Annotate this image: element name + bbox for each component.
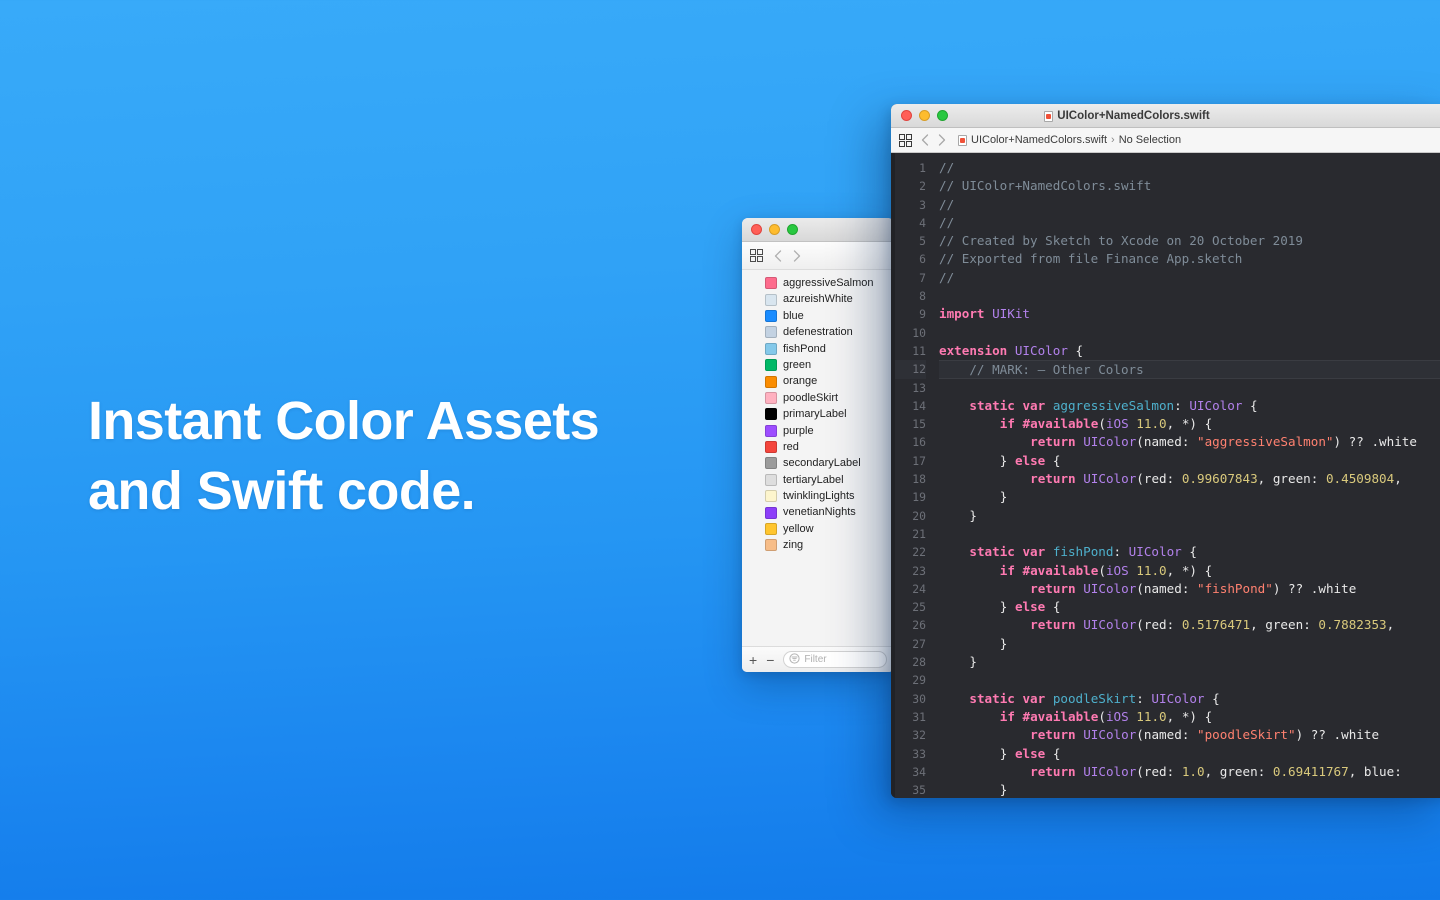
filter-placeholder-text: Filter	[804, 654, 826, 665]
color-asset-row[interactable]: twinklingLights	[742, 488, 894, 504]
line-number: 28	[895, 653, 926, 671]
color-swatch	[765, 277, 777, 289]
code-line: // Created by Sketch to Xcode on 20 Octo…	[939, 232, 1440, 250]
color-asset-name: purple	[783, 423, 814, 439]
grid-view-icon[interactable]	[899, 134, 912, 147]
line-number: 25	[895, 598, 926, 616]
minimize-icon[interactable]	[769, 224, 780, 235]
code-line: static var poodleSkirt: UIColor {	[939, 690, 1440, 708]
color-swatch	[765, 441, 777, 453]
xcode-navigation-bar: UIColor+NamedColors.swift › No Selection	[891, 128, 1440, 153]
color-asset-name: defenestration	[783, 324, 853, 340]
color-swatch	[765, 490, 777, 502]
colors-window-bottom-bar: + − Filter	[742, 646, 894, 672]
color-asset-row[interactable]: venetianNights	[742, 504, 894, 520]
code-line: } else {	[939, 745, 1440, 763]
remove-color-button[interactable]: −	[766, 653, 774, 667]
line-number: 22	[895, 543, 926, 561]
line-number: 19	[895, 488, 926, 506]
color-asset-name: orange	[783, 373, 817, 389]
color-swatch	[765, 474, 777, 486]
color-assets-window: aggressiveSalmonazureishWhitebluedefenes…	[742, 218, 894, 672]
line-number: 30	[895, 690, 926, 708]
breadcrumb-separator-icon: ›	[1111, 134, 1115, 146]
code-line: }	[939, 507, 1440, 525]
breadcrumb[interactable]: UIColor+NamedColors.swift › No Selection	[958, 134, 1181, 146]
color-asset-name: yellow	[783, 521, 814, 537]
color-asset-row[interactable]: blue	[742, 308, 894, 324]
line-number: 10	[895, 324, 926, 342]
color-asset-name: tertiaryLabel	[783, 472, 844, 488]
code-line: }	[939, 781, 1440, 798]
line-number: 5	[895, 232, 926, 250]
color-asset-name: red	[783, 439, 799, 455]
code-line: //	[939, 214, 1440, 232]
line-number: 15	[895, 415, 926, 433]
color-asset-name: aggressiveSalmon	[783, 275, 874, 291]
add-color-button[interactable]: +	[749, 653, 757, 667]
line-number: 31	[895, 708, 926, 726]
color-asset-row[interactable]: zing	[742, 537, 894, 553]
xcode-window-title: UIColor+NamedColors.swift	[891, 104, 1440, 128]
code-line	[939, 287, 1440, 305]
code-line: // Exported from file Finance App.sketch	[939, 250, 1440, 268]
color-asset-row[interactable]: tertiaryLabel	[742, 472, 894, 488]
color-assets-list[interactable]: aggressiveSalmonazureishWhitebluedefenes…	[742, 270, 894, 646]
line-number: 1	[895, 159, 926, 177]
color-asset-row[interactable]: green	[742, 357, 894, 373]
code-line: return UIColor(named: "aggressiveSalmon"…	[939, 433, 1440, 451]
code-line: } else {	[939, 452, 1440, 470]
color-asset-name: poodleSkirt	[783, 390, 838, 406]
code-line: extension UIColor {	[939, 342, 1440, 360]
color-swatch	[765, 507, 777, 519]
color-asset-row[interactable]: poodleSkirt	[742, 390, 894, 406]
color-swatch	[765, 359, 777, 371]
line-number: 12	[895, 360, 926, 378]
line-number: 13	[895, 379, 926, 397]
code-line: // UIColor+NamedColors.swift	[939, 177, 1440, 195]
breadcrumb-file[interactable]: UIColor+NamedColors.swift	[971, 134, 1107, 146]
color-asset-name: fishPond	[783, 341, 826, 357]
line-number: 14	[895, 397, 926, 415]
line-number: 4	[895, 214, 926, 232]
line-number: 21	[895, 525, 926, 543]
line-number: 7	[895, 269, 926, 287]
code-line: //	[939, 159, 1440, 177]
source-code-area[interactable]: //// UIColor+NamedColors.swift////// Cre…	[933, 153, 1440, 798]
color-asset-row[interactable]: red	[742, 439, 894, 455]
color-swatch	[765, 457, 777, 469]
swift-file-icon	[1044, 111, 1053, 122]
chevron-left-icon[interactable]	[921, 134, 929, 146]
code-line: static var aggressiveSalmon: UIColor {	[939, 397, 1440, 415]
color-asset-row[interactable]: aggressiveSalmon	[742, 275, 894, 291]
zoom-icon[interactable]	[787, 224, 798, 235]
color-asset-name: venetianNights	[783, 504, 856, 520]
code-line: import UIKit	[939, 305, 1440, 323]
color-asset-row[interactable]: yellow	[742, 521, 894, 537]
color-swatch	[765, 326, 777, 338]
code-line: if #available(iOS 11.0, *) {	[939, 708, 1440, 726]
color-asset-name: twinklingLights	[783, 488, 855, 504]
line-number: 18	[895, 470, 926, 488]
line-number: 8	[895, 287, 926, 305]
color-swatch	[765, 523, 777, 535]
grid-view-icon[interactable]	[750, 249, 763, 262]
code-line: //	[939, 196, 1440, 214]
code-line	[939, 379, 1440, 397]
swift-file-icon	[958, 135, 967, 146]
line-number: 23	[895, 562, 926, 580]
line-number: 33	[895, 745, 926, 763]
code-line: if #available(iOS 11.0, *) {	[939, 562, 1440, 580]
line-number: 34	[895, 763, 926, 781]
code-line: }	[939, 635, 1440, 653]
code-line: if #available(iOS 11.0, *) {	[939, 415, 1440, 433]
code-line: // MARK: – Other Colors	[939, 360, 1440, 378]
color-asset-row[interactable]: azureishWhite	[742, 291, 894, 307]
line-number: 16	[895, 433, 926, 451]
xcode-window-title-text: UIColor+NamedColors.swift	[1057, 110, 1209, 122]
code-line: return UIColor(named: "fishPond") ?? .wh…	[939, 580, 1440, 598]
code-line	[939, 671, 1440, 689]
color-asset-name: green	[783, 357, 811, 373]
color-asset-row[interactable]: primaryLabel	[742, 406, 894, 422]
xcode-window: UIColor+NamedColors.swift UIColor+NamedC…	[891, 104, 1440, 798]
code-line	[939, 324, 1440, 342]
line-number: 9	[895, 305, 926, 323]
line-number: 32	[895, 726, 926, 744]
color-swatch	[765, 376, 777, 388]
close-icon[interactable]	[751, 224, 762, 235]
colors-window-titlebar	[742, 218, 894, 242]
line-number-gutter: 1234567891011121314151617181920212223242…	[895, 153, 933, 798]
line-number: 11	[895, 342, 926, 360]
code-line: return UIColor(red: 1.0, green: 0.694117…	[939, 763, 1440, 781]
line-number: 26	[895, 616, 926, 634]
color-asset-name: secondaryLabel	[783, 455, 861, 471]
color-swatch	[765, 343, 777, 355]
code-line: static var fishPond: UIColor {	[939, 543, 1440, 561]
line-number: 27	[895, 635, 926, 653]
breadcrumb-selection[interactable]: No Selection	[1119, 134, 1181, 146]
line-number: 3	[895, 196, 926, 214]
color-asset-name: zing	[783, 537, 803, 553]
code-line: return UIColor(red: 0.5176471, green: 0.…	[939, 616, 1440, 634]
filter-icon	[789, 653, 800, 667]
color-asset-name: primaryLabel	[783, 406, 847, 422]
color-asset-row[interactable]: defenestration	[742, 324, 894, 340]
color-swatch	[765, 408, 777, 420]
line-number: 2	[895, 177, 926, 195]
code-line: }	[939, 653, 1440, 671]
line-number: 29	[895, 671, 926, 689]
line-number: 35	[895, 781, 926, 798]
filter-input[interactable]: Filter	[783, 651, 887, 668]
chevron-right-icon[interactable]	[793, 250, 801, 262]
color-asset-name: blue	[783, 308, 804, 324]
page-title: Instant Color Assets and Swift code.	[88, 386, 728, 526]
color-asset-name: azureishWhite	[783, 291, 853, 307]
chevron-right-icon[interactable]	[938, 134, 946, 146]
color-swatch	[765, 425, 777, 437]
line-number: 6	[895, 250, 926, 268]
code-line: //	[939, 269, 1440, 287]
color-asset-row[interactable]: purple	[742, 423, 894, 439]
code-line: return UIColor(named: "poodleSkirt") ?? …	[939, 726, 1440, 744]
colors-window-toolbar	[742, 242, 894, 270]
xcode-source-editor[interactable]: 1234567891011121314151617181920212223242…	[891, 153, 1440, 798]
code-line	[939, 525, 1440, 543]
color-swatch	[765, 539, 777, 551]
color-swatch	[765, 310, 777, 322]
line-number: 20	[895, 507, 926, 525]
xcode-titlebar: UIColor+NamedColors.swift	[891, 104, 1440, 128]
color-swatch	[765, 294, 777, 306]
code-line: } else {	[939, 598, 1440, 616]
code-line: }	[939, 488, 1440, 506]
code-line: return UIColor(red: 0.99607843, green: 0…	[939, 470, 1440, 488]
color-swatch	[765, 392, 777, 404]
color-asset-row[interactable]: secondaryLabel	[742, 455, 894, 471]
chevron-left-icon[interactable]	[774, 250, 782, 262]
line-number: 24	[895, 580, 926, 598]
color-asset-row[interactable]: fishPond	[742, 341, 894, 357]
line-number: 17	[895, 452, 926, 470]
color-asset-row[interactable]: orange	[742, 373, 894, 389]
